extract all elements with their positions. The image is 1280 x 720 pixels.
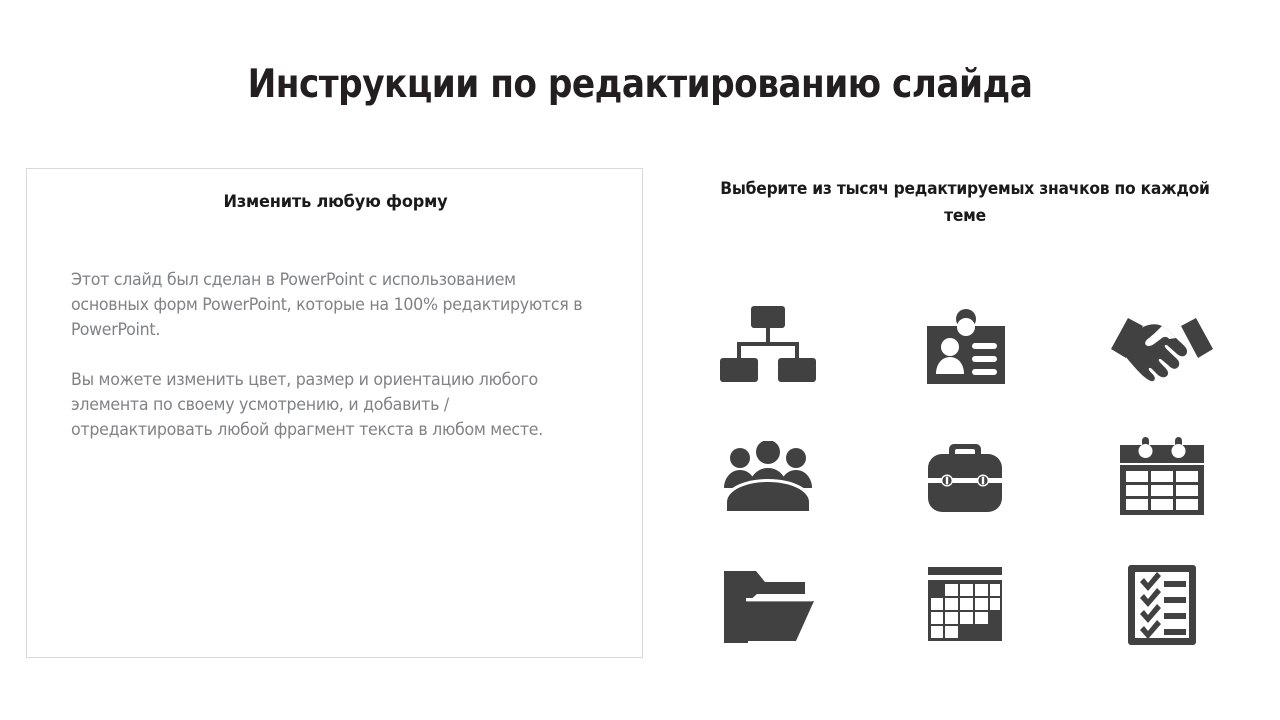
handshake-icon <box>1110 316 1214 382</box>
slide-canvas: Инструкции по редактированию слайда Изме… <box>0 0 1280 720</box>
org-chart-icon <box>720 306 816 392</box>
icon-grid <box>670 285 1260 669</box>
checklist-icon <box>1127 564 1197 646</box>
open-folder-icon <box>722 567 814 643</box>
card-heading: Изменить любую форму <box>42 192 628 212</box>
icon-cell-calendar-grid[interactable] <box>910 550 1020 660</box>
page-title: Инструкции по редактированию слайда <box>77 62 1203 107</box>
icon-cell-calendar[interactable] <box>1107 422 1217 532</box>
meeting-people-icon <box>721 441 815 513</box>
briefcase-icon <box>927 440 1003 514</box>
edit-shapes-card: Изменить любую форму Этот слайд был сдел… <box>26 168 643 658</box>
icon-cell-folder[interactable] <box>713 550 823 660</box>
card-paragraph-2: Вы можете изменить цвет, размер и ориент… <box>71 367 583 442</box>
icons-section-heading: Выберите из тысяч редактируемых значков … <box>702 175 1228 229</box>
id-badge-icon <box>925 308 1005 390</box>
icon-cell-meeting[interactable] <box>713 422 823 532</box>
icon-cell-id-badge[interactable] <box>910 294 1020 404</box>
icon-cell-briefcase[interactable] <box>910 422 1020 532</box>
icon-cell-org-chart[interactable] <box>713 294 823 404</box>
calendar-grid-icon <box>926 567 1004 643</box>
card-body: Этот слайд был сделан в PowerPoint с исп… <box>71 267 604 442</box>
calendar-icon <box>1118 437 1206 517</box>
icons-section: Выберите из тысяч редактируемых значков … <box>670 175 1260 229</box>
icon-cell-checklist[interactable] <box>1107 550 1217 660</box>
card-paragraph-1: Этот слайд был сделан в PowerPoint с исп… <box>71 267 583 342</box>
icon-cell-handshake[interactable] <box>1107 294 1217 404</box>
